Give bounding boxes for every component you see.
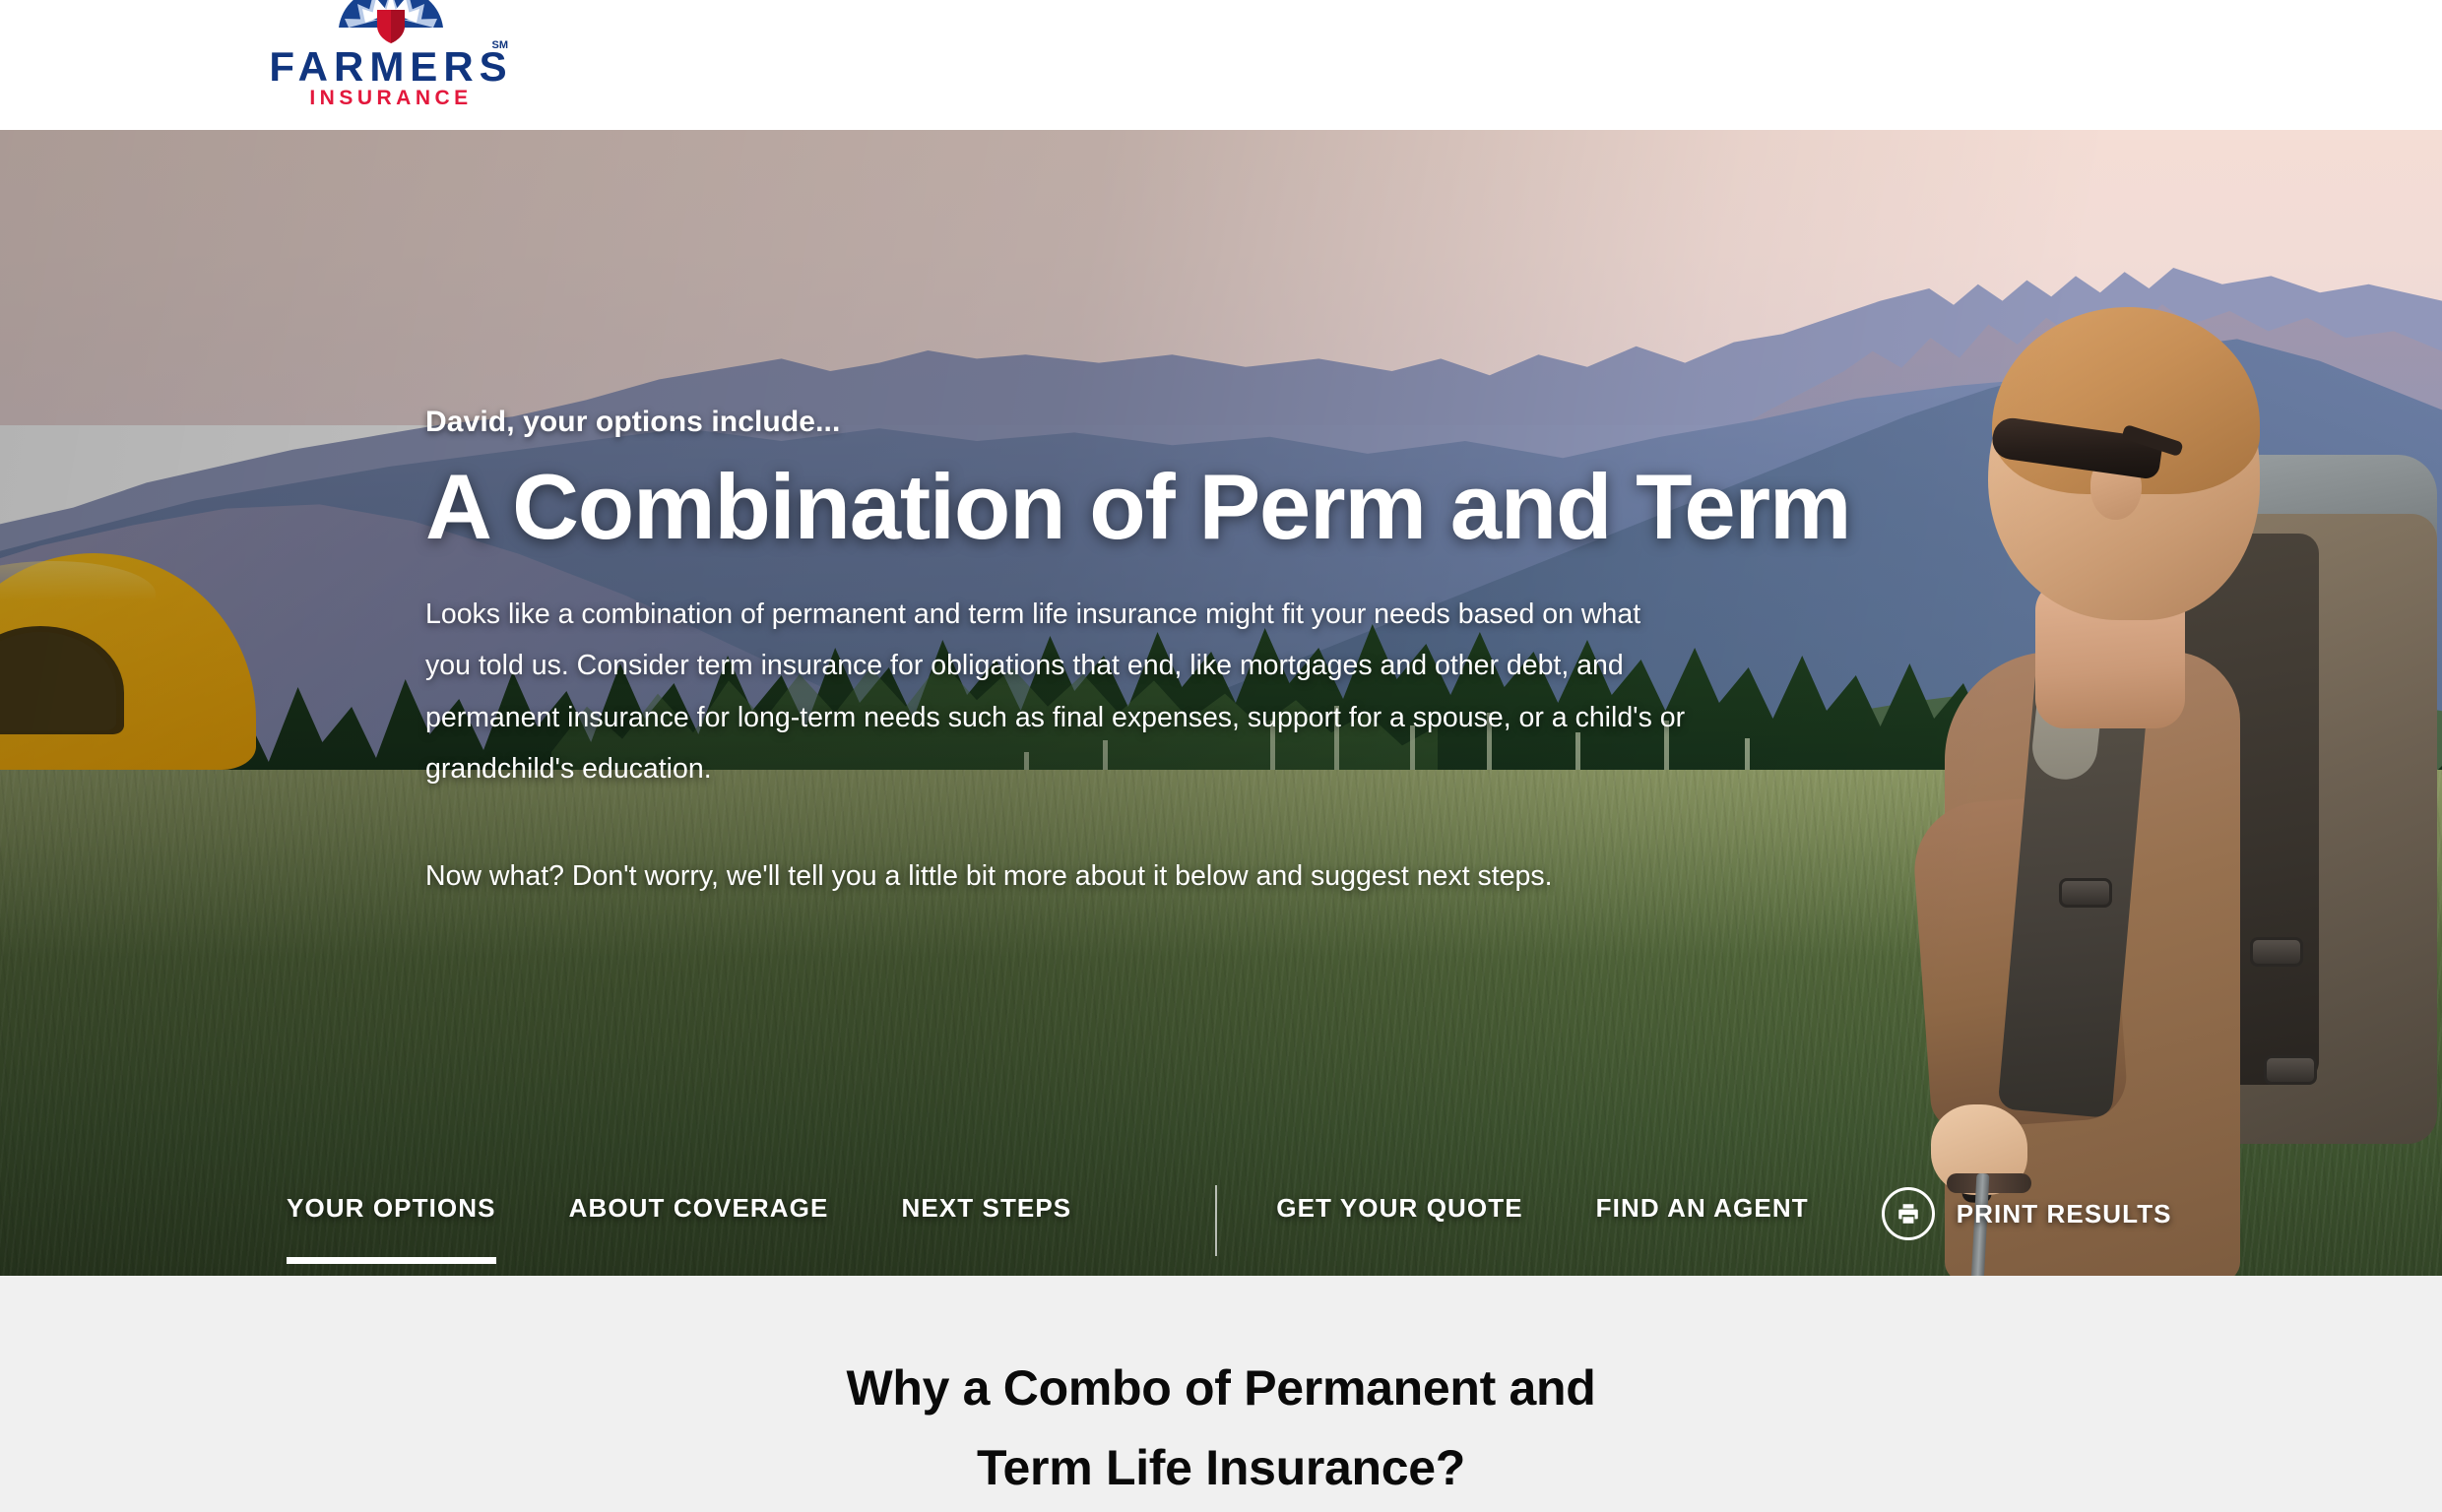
print-results-button[interactable]: PRINT RESULTS <box>1882 1173 2172 1240</box>
strap-buckle <box>2250 937 2303 967</box>
hero-headline: A Combination of Perm and Term <box>425 461 1804 553</box>
farmers-insurance-logo[interactable]: FARMERS SM INSURANCE <box>268 0 514 122</box>
nav-tab-about-coverage[interactable]: ABOUT COVERAGE <box>569 1173 829 1224</box>
hero-copy-block: David, your options include... A Combina… <box>425 406 1804 902</box>
strap-buckle <box>2059 878 2112 908</box>
hero-eyebrow: David, your options include... <box>425 406 1804 439</box>
strap-buckle <box>2264 1055 2317 1085</box>
nav-tab-your-options[interactable]: YOUR OPTIONS <box>287 1173 496 1224</box>
find-an-agent-link[interactable]: FIND AN AGENT <box>1596 1173 1809 1224</box>
logo-tagline: INSURANCE <box>268 87 514 110</box>
print-results-label: PRINT RESULTS <box>1957 1199 2172 1229</box>
hero-nav-bar: YOUR OPTIONS ABOUT COVERAGE NEXT STEPS G… <box>0 1173 2442 1276</box>
printer-icon <box>1882 1187 1935 1240</box>
nav-actions-group: GET YOUR QUOTE FIND AN AGENT PRINT RESUL… <box>1276 1173 2171 1240</box>
get-your-quote-link[interactable]: GET YOUR QUOTE <box>1276 1173 1522 1224</box>
site-header: FARMERS SM INSURANCE <box>0 0 2442 130</box>
farmers-sunburst-shield-icon <box>336 0 446 45</box>
section-heading-line-1: Why a Combo of Permanent and <box>846 1360 1595 1416</box>
hero-paragraph-2: Now what? Don't worry, we'll tell you a … <box>425 850 1691 902</box>
nav-divider <box>1215 1185 1217 1256</box>
section-heading: Why a Combo of Permanent and Term Life I… <box>0 1349 2442 1508</box>
hero-paragraph-1: Looks like a combination of permanent an… <box>425 589 1691 795</box>
nav-tab-next-steps[interactable]: NEXT STEPS <box>901 1173 1071 1224</box>
hiker-figure <box>1827 189 2442 1276</box>
tent-highlight <box>0 561 156 600</box>
section-heading-line-2: Term Life Insurance? <box>977 1440 1465 1495</box>
logo-trademark: SM <box>492 39 509 51</box>
hero-banner: David, your options include... A Combina… <box>0 130 2442 1276</box>
why-combo-section: Why a Combo of Permanent and Term Life I… <box>0 1276 2442 1512</box>
logo-wordmark: FARMERS <box>268 43 514 91</box>
